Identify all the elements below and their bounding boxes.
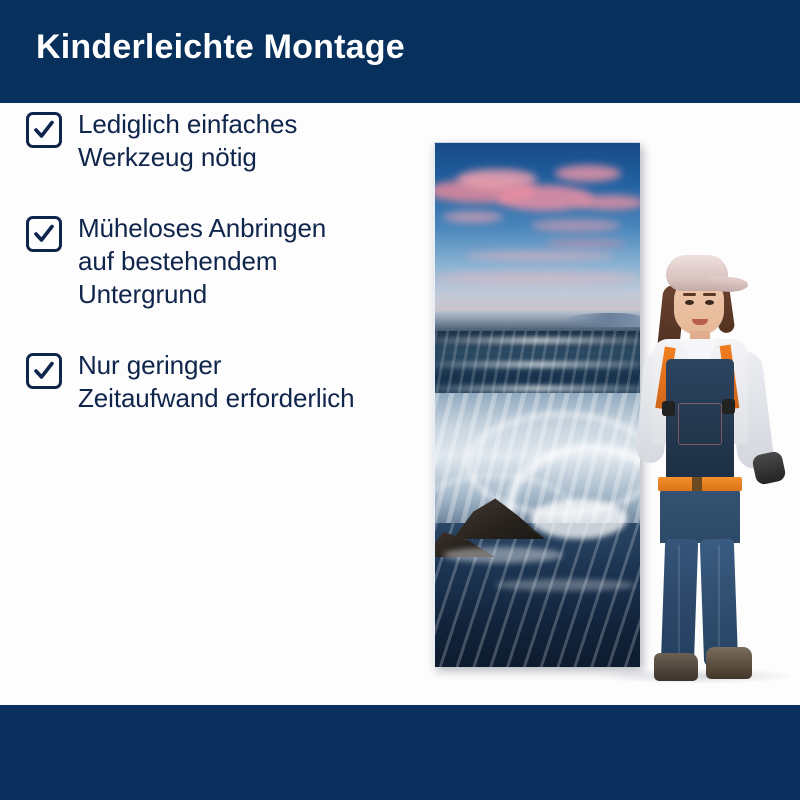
feature-label: Müheloses Anbringen auf bestehendem Unte…: [78, 212, 326, 311]
work-glove: [751, 450, 787, 486]
worker-photo: [608, 255, 783, 680]
work-boot-right: [706, 647, 752, 679]
page-title: Kinderleichte Montage: [36, 28, 405, 67]
checkmark-icon: [32, 359, 56, 383]
cloud-shape: [465, 251, 615, 261]
header-bar: Kinderleichte Montage: [0, 0, 800, 103]
work-boot-left: [654, 653, 698, 681]
cloud-shape: [575, 195, 640, 210]
checkmark-icon: [32, 118, 56, 142]
eye: [705, 300, 714, 305]
checkbox-checked[interactable]: [26, 112, 62, 148]
cloud-shape: [545, 239, 625, 248]
eyebrow: [683, 293, 696, 296]
jeans-seam: [678, 545, 680, 655]
checkbox-checked[interactable]: [26, 353, 62, 389]
marketing-poster: Kinderleichte Montage Lediglich einfache…: [0, 0, 800, 800]
checkbox-checked[interactable]: [26, 216, 62, 252]
belt-buckle: [692, 477, 702, 491]
feature-item-time: Nur geringer Zeitaufwand erforderlich: [26, 349, 426, 415]
eye: [685, 300, 694, 305]
artwork-foam: [443, 547, 563, 563]
cloud-shape: [531, 219, 621, 232]
feature-item-tools: Lediglich einfaches Werkzeug nötig: [26, 108, 426, 174]
footer-bar: NORILIVING: [0, 705, 800, 800]
feature-item-mounting: Müheloses Anbringen auf bestehendem Unte…: [26, 212, 426, 311]
cloud-shape: [443, 211, 503, 223]
strap-clip: [662, 401, 675, 416]
strap-clip: [722, 399, 735, 414]
feature-label: Nur geringer Zeitaufwand erforderlich: [78, 349, 355, 415]
jeans-hip: [660, 489, 740, 543]
checkmark-icon: [32, 222, 56, 246]
eyebrow: [703, 293, 716, 296]
cloud-shape: [555, 165, 621, 182]
jeans-seam: [718, 545, 720, 655]
feature-label: Lediglich einfaches Werkzeug nötig: [78, 108, 297, 174]
feature-list: Lediglich einfaches Werkzeug nötig Mühel…: [26, 108, 426, 453]
overall-pocket: [678, 403, 722, 445]
